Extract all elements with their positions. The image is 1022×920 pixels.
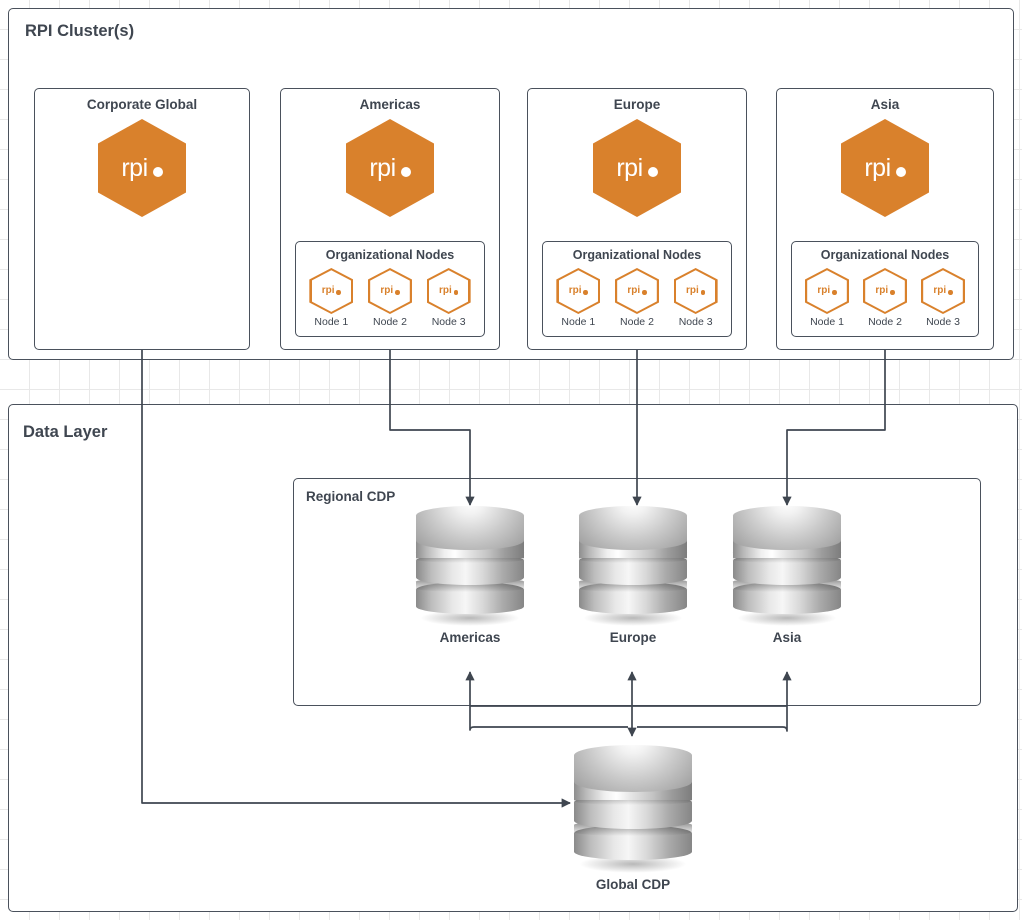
rpi-node-word: rpi xyxy=(627,286,640,296)
org-node-label: Node 1 xyxy=(810,316,844,328)
rpi-node-word: rpi xyxy=(875,286,888,296)
org-node-label: Node 3 xyxy=(926,316,960,328)
rpi-node-hexagon-icon: rpi xyxy=(368,268,412,314)
rpi-node-word: rpi xyxy=(380,286,393,296)
rpi-logo-word: rpi xyxy=(369,156,395,181)
database-cylinder-icon xyxy=(574,745,692,871)
org-node-label: Node 2 xyxy=(620,316,654,328)
regional-cdp-title: Regional CDP xyxy=(306,489,395,504)
rpi-node-dot-icon xyxy=(583,290,588,295)
database-europe[interactable]: Europe xyxy=(579,506,687,645)
database-global-cdp[interactable]: Global CDP xyxy=(574,745,692,892)
database-cylinder-icon xyxy=(733,506,841,624)
org-node[interactable]: rpi Node 2 xyxy=(368,268,412,328)
organizational-nodes-box: Organizational Nodes rpi Node 1 rpi xyxy=(295,241,485,337)
rpi-logo-hexagon-icon: rpi xyxy=(593,119,681,217)
rpi-node-word: rpi xyxy=(569,286,582,296)
database-americas[interactable]: Americas xyxy=(416,506,524,645)
org-node[interactable]: rpi Node 2 xyxy=(615,268,659,328)
rpi-node-dot-icon xyxy=(701,290,706,295)
rpi-node-hexagon-icon: rpi xyxy=(309,268,353,314)
org-node-label: Node 1 xyxy=(314,316,348,328)
rpi-node-word: rpi xyxy=(817,286,830,296)
rpi-node-dot-icon xyxy=(642,290,647,295)
rpi-node-word: rpi xyxy=(439,286,452,296)
rpi-node-word: rpi xyxy=(686,286,699,296)
organizational-nodes-row: rpi Node 1 rpi Node 2 rpi xyxy=(549,268,725,328)
org-node[interactable]: rpi Node 2 xyxy=(863,268,907,328)
org-node[interactable]: rpi Node 3 xyxy=(674,268,718,328)
rpi-clusters-title: RPI Cluster(s) xyxy=(25,22,134,41)
rpi-node-dot-icon xyxy=(454,290,459,295)
org-node[interactable]: rpi Node 1 xyxy=(556,268,600,328)
organizational-nodes-box: Organizational Nodes rpi Node 1 rpi xyxy=(542,241,732,337)
organizational-nodes-title: Organizational Nodes xyxy=(543,248,731,262)
cluster-name-asia: Asia xyxy=(777,97,993,112)
database-cylinder-icon xyxy=(579,506,687,624)
org-node[interactable]: rpi Node 1 xyxy=(805,268,849,328)
rpi-logo-word: rpi xyxy=(864,156,890,181)
database-asia[interactable]: Asia xyxy=(733,506,841,645)
rpi-logo-dot-icon xyxy=(648,167,658,177)
org-node-label: Node 1 xyxy=(561,316,595,328)
rpi-node-hexagon-icon: rpi xyxy=(427,268,471,314)
database-cylinder-icon xyxy=(416,506,524,624)
organizational-nodes-row: rpi Node 1 rpi Node 2 rpi xyxy=(798,268,972,328)
rpi-logo-hexagon-icon: rpi xyxy=(841,119,929,217)
rpi-node-hexagon-icon: rpi xyxy=(674,268,718,314)
organizational-nodes-title: Organizational Nodes xyxy=(792,248,978,262)
rpi-node-word: rpi xyxy=(933,286,946,296)
organizational-nodes-row: rpi Node 1 rpi Node 2 rpi xyxy=(302,268,478,328)
org-node-label: Node 2 xyxy=(868,316,902,328)
organizational-nodes-title: Organizational Nodes xyxy=(296,248,484,262)
rpi-node-dot-icon xyxy=(336,290,341,295)
org-node-label: Node 3 xyxy=(432,316,466,328)
rpi-node-hexagon-icon: rpi xyxy=(863,268,907,314)
cluster-card-americas[interactable]: Americas rpi Organizational Nodes rpi No… xyxy=(280,88,500,350)
rpi-node-hexagon-icon: rpi xyxy=(556,268,600,314)
rpi-node-hexagon-icon: rpi xyxy=(921,268,965,314)
rpi-logo-dot-icon xyxy=(896,167,906,177)
rpi-node-hexagon-icon: rpi xyxy=(805,268,849,314)
data-layer-title: Data Layer xyxy=(23,423,107,442)
cluster-card-asia[interactable]: Asia rpi Organizational Nodes rpi Node 1… xyxy=(776,88,994,350)
rpi-logo-dot-icon xyxy=(153,167,163,177)
org-node[interactable]: rpi Node 1 xyxy=(309,268,353,328)
cluster-name-corporate-global: Corporate Global xyxy=(35,97,249,112)
cluster-name-americas: Americas xyxy=(281,97,499,112)
org-node[interactable]: rpi Node 3 xyxy=(427,268,471,328)
database-label-americas: Americas xyxy=(440,630,501,645)
rpi-node-dot-icon xyxy=(832,290,837,295)
rpi-node-hexagon-icon: rpi xyxy=(615,268,659,314)
rpi-node-dot-icon xyxy=(948,290,953,295)
rpi-node-dot-icon xyxy=(890,290,895,295)
rpi-node-word: rpi xyxy=(322,286,335,296)
cluster-card-corporate-global[interactable]: Corporate Global rpi xyxy=(34,88,250,350)
org-node-label: Node 2 xyxy=(373,316,407,328)
cluster-name-europe: Europe xyxy=(528,97,746,112)
cluster-card-europe[interactable]: Europe rpi Organizational Nodes rpi Node… xyxy=(527,88,747,350)
org-node-label: Node 3 xyxy=(679,316,713,328)
org-node[interactable]: rpi Node 3 xyxy=(921,268,965,328)
organizational-nodes-box: Organizational Nodes rpi Node 1 rpi xyxy=(791,241,979,337)
rpi-logo-hexagon-icon: rpi xyxy=(346,119,434,217)
database-label-global-cdp: Global CDP xyxy=(596,877,670,892)
rpi-logo-word: rpi xyxy=(616,156,642,181)
database-label-asia: Asia xyxy=(773,630,802,645)
rpi-node-dot-icon xyxy=(395,290,400,295)
rpi-logo-hexagon-icon: rpi xyxy=(98,119,186,217)
database-label-europe: Europe xyxy=(610,630,657,645)
rpi-logo-word: rpi xyxy=(121,156,147,181)
rpi-logo-dot-icon xyxy=(401,167,411,177)
